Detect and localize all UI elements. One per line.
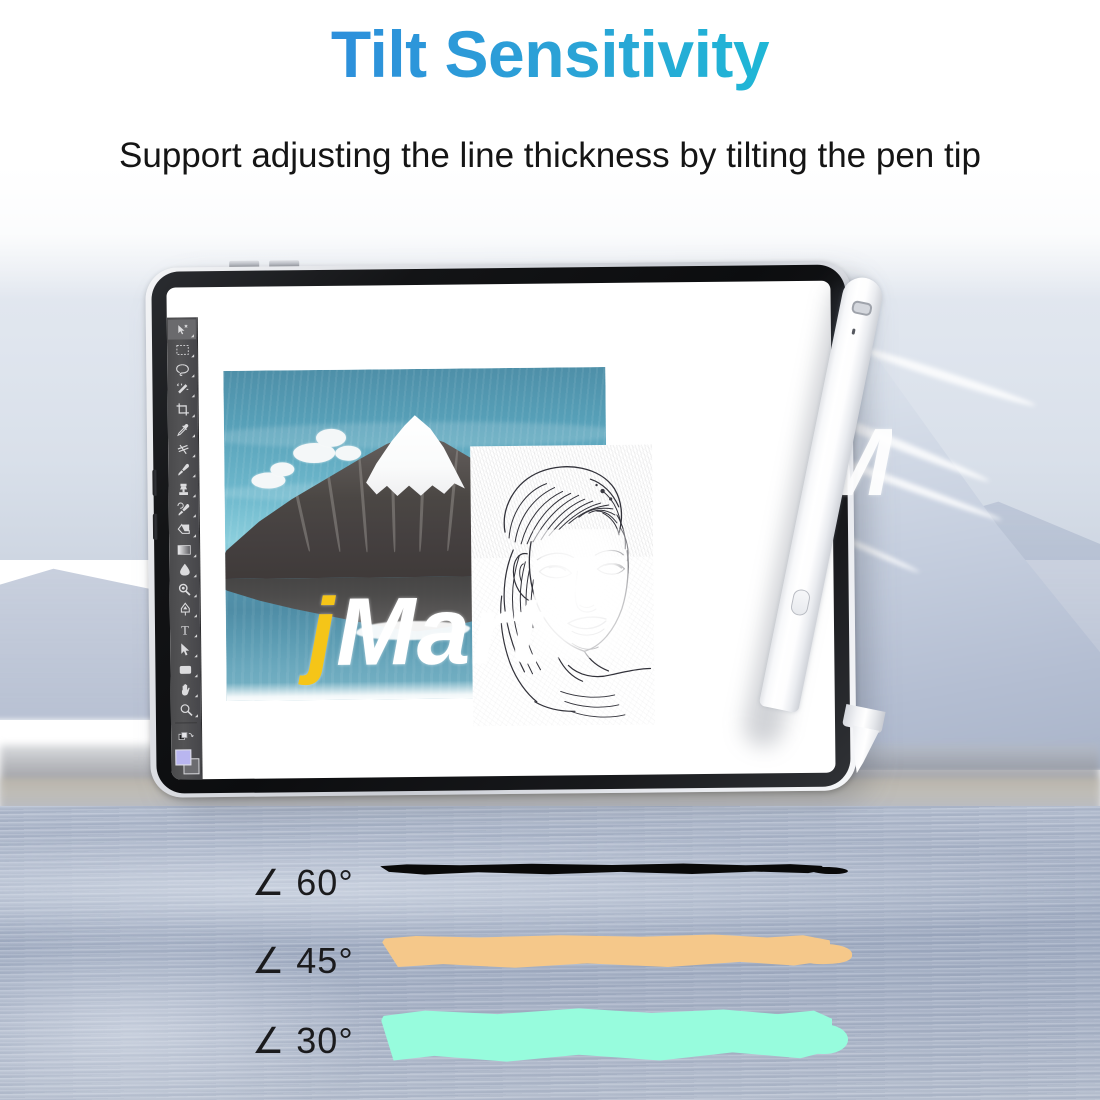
clone-stamp-icon[interactable]	[169, 479, 197, 499]
eyedropper-icon[interactable]	[169, 419, 197, 439]
pen-tip-icon	[837, 724, 885, 777]
pen-icon[interactable]	[171, 599, 199, 619]
toolbar-divider	[175, 722, 197, 723]
side-button-lower[interactable]	[153, 514, 158, 540]
tilt-row: ∠ 45°	[246, 930, 886, 992]
cloud-icon	[335, 445, 361, 460]
marquee-icon[interactable]	[168, 339, 196, 359]
path-selection-icon[interactable]	[171, 639, 199, 659]
stroke-holder	[380, 852, 886, 914]
lasso-icon[interactable]	[168, 359, 196, 379]
sketch-highlight	[533, 529, 629, 659]
page-subtitle: Support adjusting the line thickness by …	[0, 136, 1100, 176]
foreground-color-swatch[interactable]	[175, 749, 191, 765]
shape-icon[interactable]	[171, 659, 199, 679]
thick-mint-stroke-tail	[799, 1023, 849, 1055]
painting-reflection-snow	[356, 620, 471, 641]
tablet-screen[interactable]: T	[166, 281, 835, 780]
zoom-icon[interactable]	[172, 699, 200, 719]
magic-wand-icon[interactable]	[168, 379, 196, 399]
photoshop-tool-palette[interactable]: T	[167, 317, 203, 779]
tilt-angle-label: ∠ 45°	[246, 940, 380, 982]
portrait-pencil-sketch[interactable]	[470, 445, 655, 727]
svg-text:T: T	[181, 623, 189, 636]
tilt-angle-label: ∠ 30°	[246, 1020, 380, 1062]
usb-c-port-icon	[851, 300, 873, 317]
product-feature-banner: Tilt Sensitivity Support adjusting the l…	[0, 0, 1100, 1100]
move-icon[interactable]	[168, 319, 196, 339]
brush-icon[interactable]	[169, 459, 197, 479]
medium-orange-stroke	[380, 933, 830, 970]
blur-icon[interactable]	[170, 559, 198, 579]
default-colors-icon[interactable]	[172, 726, 200, 746]
stylus-pen	[828, 272, 1048, 782]
side-button-upper[interactable]	[152, 470, 157, 496]
pen-touch-button[interactable]	[790, 588, 812, 617]
thin-black-stroke-tail	[810, 866, 848, 874]
tilt-angle-label: ∠ 60°	[246, 862, 380, 904]
tilt-row: ∠ 30°	[246, 1010, 886, 1072]
crop-icon[interactable]	[169, 399, 197, 419]
history-brush-icon[interactable]	[170, 499, 198, 519]
type-icon[interactable]: T	[171, 619, 199, 639]
stroke-holder	[380, 930, 886, 992]
thin-black-stroke	[380, 862, 826, 877]
color-swatches[interactable]	[172, 746, 200, 776]
healing-brush-icon[interactable]	[169, 439, 197, 459]
medium-orange-stroke-tail	[798, 943, 853, 965]
gradient-icon[interactable]	[170, 539, 198, 559]
stroke-holder	[380, 1010, 886, 1072]
eraser-icon[interactable]	[170, 519, 198, 539]
hand-icon[interactable]	[172, 679, 200, 699]
tilt-angle-comparison: ∠ 60° ∠ 45° ∠ 30°	[246, 852, 886, 1072]
dodge-icon[interactable]	[170, 579, 198, 599]
tilt-row: ∠ 60°	[246, 852, 886, 914]
thick-mint-stroke	[380, 1006, 832, 1064]
led-indicator-icon	[851, 328, 855, 334]
page-title: Tilt Sensitivity	[0, 16, 1100, 92]
